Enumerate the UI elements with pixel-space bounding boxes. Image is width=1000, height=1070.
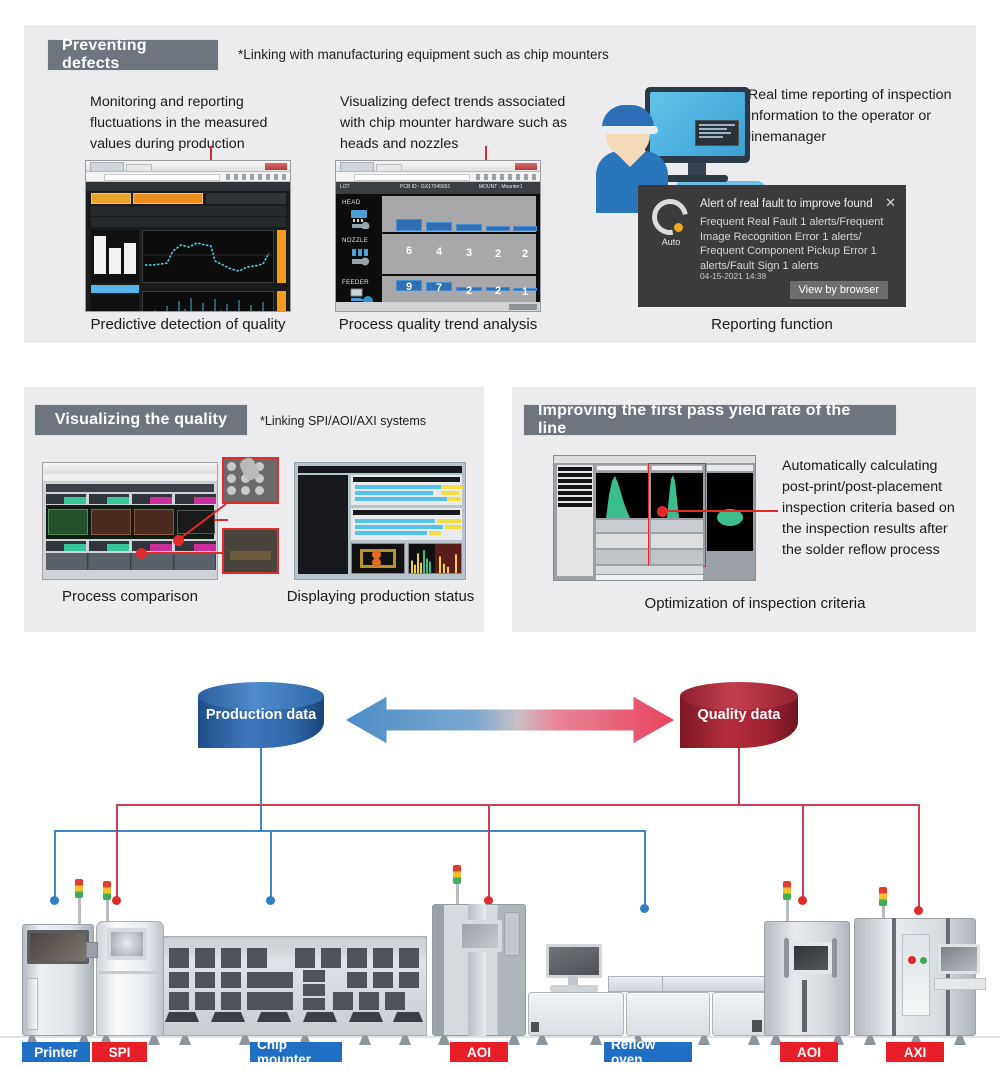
- arrow-icon: [345, 694, 675, 746]
- histogram-panel-1: [596, 473, 648, 518]
- connector-red-drop-aoi1: [488, 804, 490, 900]
- thumbnail-inspection-criteria: [553, 455, 756, 581]
- caption-reporting-function: Reporting function: [672, 316, 872, 333]
- browser-address-bar: [86, 172, 290, 182]
- tree-item: [558, 491, 592, 495]
- progress-bar-yellow: [445, 525, 461, 529]
- progress-bar-yellow: [429, 531, 441, 535]
- solder-ball: [227, 462, 236, 471]
- aoi1-control-panel: [504, 912, 520, 956]
- spike-chart-icon: [143, 292, 273, 312]
- axi-keyboard-tray: [934, 978, 986, 990]
- trend-chart-lower: [142, 291, 274, 312]
- machine-aoi-1: [432, 892, 526, 1036]
- tree-item: [558, 467, 592, 471]
- info-row: [206, 193, 286, 204]
- axi-button-red: [908, 956, 916, 964]
- toolbar-icons: [226, 174, 286, 180]
- pcb-board: [48, 509, 88, 535]
- auto-label: Auto: [648, 237, 694, 247]
- cylinder-production-data: Production data: [198, 682, 324, 748]
- thumbnail-process-quality-trend: LOT PCB ID : GX17045651 MOUNT : Mounter1…: [335, 160, 541, 312]
- leader-line-improving: [662, 510, 778, 512]
- browser-tab-secondary: [126, 164, 152, 171]
- feeder-value: 9: [396, 281, 422, 293]
- machine-spi: [96, 908, 164, 1036]
- window-buttons: [265, 163, 287, 170]
- caption-production-status: Displaying production status: [278, 588, 483, 605]
- section-tag-improving-yield: Improving the first pass yield rate of t…: [524, 405, 896, 435]
- progress-bar-yellow: [447, 497, 461, 501]
- aoi2-seam: [802, 980, 807, 1032]
- mini-notification-preview: [695, 120, 739, 146]
- nozzle-bar: [513, 226, 537, 231]
- notification-title: Alert of real fault to improve found: [700, 198, 873, 210]
- aoi1-screen: [458, 920, 502, 952]
- title-strip: [46, 484, 214, 492]
- status-chip-secondary: [133, 193, 203, 204]
- head-icon: [349, 209, 373, 229]
- browser-chrome: [43, 463, 217, 474]
- axi-seam-left: [892, 918, 896, 1036]
- connector-blue-drop-mounter: [270, 830, 272, 900]
- aoi2-handle-right: [832, 938, 837, 978]
- side-panel: [91, 295, 139, 312]
- feeder-value: 2: [486, 285, 510, 297]
- blurb-real-time-reporting: Real time reporting of inspection inform…: [748, 85, 953, 148]
- node-chip-mounter: [266, 896, 275, 905]
- machine-axi: [854, 910, 976, 1036]
- panel-header: [353, 510, 460, 515]
- equipment-label-spi: SPI: [92, 1042, 147, 1062]
- scroll-indicator[interactable]: [277, 230, 286, 283]
- progress-bar-blue: [355, 485, 441, 489]
- view-by-browser-button[interactable]: View by browser: [790, 281, 889, 299]
- reflow-monitor: [546, 944, 602, 978]
- row-label-feeder: FEEDER: [342, 279, 369, 286]
- notification-card[interactable]: Auto Alert of real fault to improve foun…: [638, 185, 906, 307]
- cell-status-ok: [64, 497, 86, 504]
- histogram-icon: [409, 544, 461, 573]
- legend-panel-1: [596, 520, 648, 532]
- nozzle-value: 2: [486, 248, 510, 260]
- cell-status-alert: [150, 544, 172, 551]
- scroll-indicator[interactable]: [277, 291, 286, 312]
- caption-process-comparison: Process comparison: [40, 588, 220, 605]
- component-image-view: [351, 543, 405, 574]
- inset-zoom-solder-joints: [222, 457, 279, 504]
- scatter-panel: [707, 473, 753, 551]
- monitor-base: [666, 175, 728, 182]
- trend-chart-upper: [142, 230, 274, 283]
- signal-pole: [106, 896, 109, 924]
- browser-tab: [90, 162, 124, 171]
- bar-gauge: [94, 236, 106, 274]
- browser-toolbar: [43, 474, 217, 482]
- connector-blue-drop-reflow: [644, 830, 646, 908]
- monitor-base: [550, 985, 598, 992]
- connector-red-drop-axi: [918, 804, 920, 910]
- app-title-bar: [554, 456, 755, 463]
- cylinder-top: [198, 682, 324, 710]
- tree-item: [558, 485, 592, 489]
- thumbnail-predictive-detection: [85, 160, 291, 312]
- bar-gauge: [124, 243, 136, 274]
- browser-address-bar: [336, 172, 540, 182]
- inset-connector-bottom: [140, 552, 224, 554]
- tree-item: [558, 503, 592, 507]
- signal-lamp: [879, 887, 887, 906]
- aoi2-screen: [790, 942, 832, 974]
- leader-dot-improving: [657, 506, 668, 517]
- mini-line: [699, 132, 731, 134]
- feeder-value: 1: [513, 286, 537, 298]
- equipment-label-printer: Printer: [22, 1042, 90, 1062]
- lot-label: LOT: [340, 184, 350, 190]
- progress-bar-yellow: [441, 485, 463, 489]
- panel-header: [353, 477, 460, 482]
- close-icon[interactable]: ✕: [885, 196, 896, 209]
- values-panel-1: [596, 550, 648, 564]
- row-label-nozzle: NOZZLE: [342, 237, 368, 244]
- cylinder-label-quality: Quality data: [680, 707, 798, 723]
- progress-bar-blue: [355, 497, 447, 501]
- node-aoi-2: [798, 896, 807, 905]
- signal-lamp: [783, 881, 791, 900]
- reflow-section-2: [626, 992, 710, 1036]
- equipment-label-reflow-oven: Reflow oven: [604, 1042, 692, 1062]
- nozzle-bar: [396, 219, 422, 231]
- axi-button-green: [920, 957, 927, 964]
- mini-line: [699, 136, 723, 138]
- inset-zoom-side-profile: [222, 528, 279, 574]
- dropdown-selector[interactable]: [596, 465, 648, 471]
- signal-lamp: [75, 879, 83, 898]
- bar-gauge-box: [91, 230, 139, 283]
- aoi2-cabinet: [764, 921, 850, 1036]
- cylinder-top: [680, 682, 798, 710]
- cell-status-alert: [150, 497, 172, 504]
- notification-timestamp: 04-15-2021 14:38: [700, 271, 766, 281]
- app-toolbar: [86, 182, 290, 191]
- section-tag-preventing-defects: Preventing defects: [48, 40, 218, 70]
- axi-screen: [938, 944, 980, 974]
- param-row-2: [91, 217, 286, 227]
- node-printer: [50, 896, 59, 905]
- bar-gauge: [109, 248, 121, 274]
- nozzle-bar: [456, 224, 482, 231]
- leader-dot-inset-bottom: [136, 548, 147, 559]
- equipment-label-axi: AXI: [886, 1042, 944, 1062]
- spi-divider: [99, 971, 161, 974]
- cell-status-ok: [64, 544, 86, 551]
- auto-alert-icon: Auto: [648, 199, 694, 251]
- left-nav-panel: [298, 475, 348, 574]
- machine-printer: [22, 911, 94, 1036]
- notification-body: Frequent Real Fault 1 alerts/Frequent Im…: [700, 215, 894, 273]
- progress-bar-blue: [355, 491, 433, 495]
- scatter-header: [707, 465, 753, 471]
- component-profile: [230, 551, 271, 560]
- row-label-head: HEAD: [342, 199, 360, 206]
- pcb-board: [134, 509, 174, 535]
- section-note-visualizing: *Linking SPI/AOI/AXI systems: [260, 414, 426, 428]
- section-note-preventing: *Linking with manufacturing equipment su…: [238, 47, 609, 62]
- histogram-icon: [596, 473, 648, 518]
- selection-highlight: [648, 463, 706, 567]
- solder-ball: [241, 486, 250, 495]
- progress-panel-1: [351, 475, 462, 505]
- solder-ball: [227, 486, 236, 495]
- table-column: [175, 553, 216, 570]
- solder-ball: [227, 474, 236, 483]
- mini-line: [699, 124, 735, 126]
- mount-label: MOUNT : Mounter1: [479, 184, 523, 190]
- machine-chip-mounter: [163, 936, 427, 1036]
- printer-door-panel: [26, 978, 38, 1030]
- status-chip-primary: [91, 193, 131, 204]
- connector-red-drop-spi: [116, 804, 118, 900]
- section-tag-visualizing-quality: Visualizing the quality: [35, 405, 247, 435]
- params-panel-1: [596, 534, 648, 548]
- app-title-bar: [298, 466, 462, 473]
- node-spi: [112, 896, 121, 905]
- reflow-section-1: [528, 992, 624, 1036]
- connector-blue-bus: [54, 830, 646, 832]
- comparison-data-table: [46, 553, 214, 570]
- machine-aoi-2: [764, 908, 850, 1036]
- ring-dot: [674, 223, 683, 232]
- trend-line-icon: [143, 231, 273, 282]
- machine-reflow-oven: [528, 936, 768, 1036]
- axi-control-column: [902, 934, 930, 1016]
- nozzle-value: 2: [513, 248, 537, 260]
- address-input: [104, 174, 220, 181]
- reflow-vent: [752, 1020, 762, 1032]
- feeder-value: 7: [426, 282, 452, 294]
- window-buttons: [515, 163, 537, 170]
- status-button[interactable]: [509, 304, 537, 310]
- progress-bar-blue: [355, 525, 443, 529]
- progress-panel-2: [351, 508, 462, 540]
- cell-status-ok: [107, 497, 129, 504]
- spi-screen: [107, 928, 147, 960]
- connector-blue-main: [260, 748, 262, 832]
- blurb-visualizing-defect-trends: Visualizing defect trends associated wit…: [340, 92, 572, 155]
- equipment-label-aoi-2: AOI: [780, 1042, 838, 1062]
- aoi2-handle-left: [784, 938, 789, 978]
- cell-status-ok: [107, 544, 129, 551]
- browser-tab-secondary: [376, 164, 402, 171]
- monitor-screen: [650, 92, 745, 156]
- progress-bar-yellow: [437, 519, 461, 523]
- tree-item: [558, 473, 592, 477]
- caption-predictive-detection: Predictive detection of quality: [88, 316, 288, 333]
- progress-bar-blue: [355, 519, 435, 523]
- pcb-board: [91, 509, 131, 535]
- nozzle-bar: [426, 222, 452, 231]
- connector-red-bus: [116, 804, 920, 806]
- solder-ball: [255, 486, 264, 495]
- blurb-auto-calculating: Automatically calculating post-print/pos…: [782, 456, 957, 561]
- reflow-vent: [531, 1022, 539, 1032]
- browser-tab: [340, 162, 374, 171]
- reflow-hood-2: [662, 976, 768, 992]
- blurb-monitoring-fluctuations: Monitoring and reporting fluctuations in…: [90, 92, 305, 155]
- nozzle-value: 4: [426, 246, 452, 258]
- signal-lamp: [453, 865, 461, 884]
- cylinder-quality-data: Quality data: [680, 682, 798, 748]
- address-input: [354, 174, 470, 181]
- table-column: [46, 553, 88, 570]
- lot-header-bar: LOT PCB ID : GX17045651 MOUNT : Mounter1: [336, 182, 540, 194]
- feeder-value: 2: [456, 285, 482, 297]
- leader-dot-inset-top: [173, 535, 184, 546]
- printer-screen: [27, 930, 89, 964]
- status-bar: [336, 302, 540, 311]
- nozzle-icon: [349, 247, 373, 269]
- summary-row: [596, 575, 703, 580]
- param-row-1: [91, 206, 286, 216]
- equipment-label-aoi-1: AOI: [450, 1042, 508, 1062]
- signal-lamp: [103, 881, 111, 900]
- cylinder-label-production: Production data: [198, 707, 324, 723]
- thumbnail-production-status: [294, 462, 466, 580]
- nozzle-value: 6: [396, 245, 422, 257]
- ring-shape: [645, 192, 695, 242]
- progress-bar-yellow: [441, 491, 459, 495]
- tree-item: [558, 479, 592, 483]
- equipment-label-chip-mounter: Chip mounter: [250, 1042, 342, 1062]
- connector-red-drop-aoi2: [802, 804, 804, 900]
- histogram-view: [408, 543, 462, 574]
- mini-line: [699, 128, 727, 130]
- connector-red-main: [738, 748, 740, 804]
- factory-floor-line: [0, 1036, 1000, 1038]
- nozzle-value: 3: [456, 247, 482, 259]
- tree-item: [558, 497, 592, 501]
- connector-blue-drop-printer: [54, 830, 56, 900]
- legend-chip: [91, 285, 139, 293]
- node-reflow-oven: [640, 904, 649, 913]
- feeder-bank-icon: [165, 946, 425, 1022]
- left-tree-panel: [557, 465, 593, 576]
- signal-pole: [78, 894, 81, 926]
- table-column: [89, 553, 131, 570]
- spi-side-monitor: [86, 942, 98, 958]
- toolbar-icons: [476, 174, 536, 180]
- axi-seam-right: [946, 918, 950, 1036]
- summary-panel: [596, 566, 703, 574]
- bidirectional-data-arrow: [345, 694, 675, 746]
- nozzle-bar: [486, 226, 510, 231]
- caption-process-trend: Process quality trend analysis: [338, 316, 538, 333]
- pad-marker: [372, 558, 381, 567]
- operator-cap-brim: [600, 126, 658, 134]
- monitor-body: [645, 87, 750, 163]
- progress-bar-blue: [355, 531, 427, 535]
- caption-optimization: Optimization of inspection criteria: [580, 595, 930, 612]
- pcb-id-label: PCB ID : GX17045651: [400, 184, 450, 190]
